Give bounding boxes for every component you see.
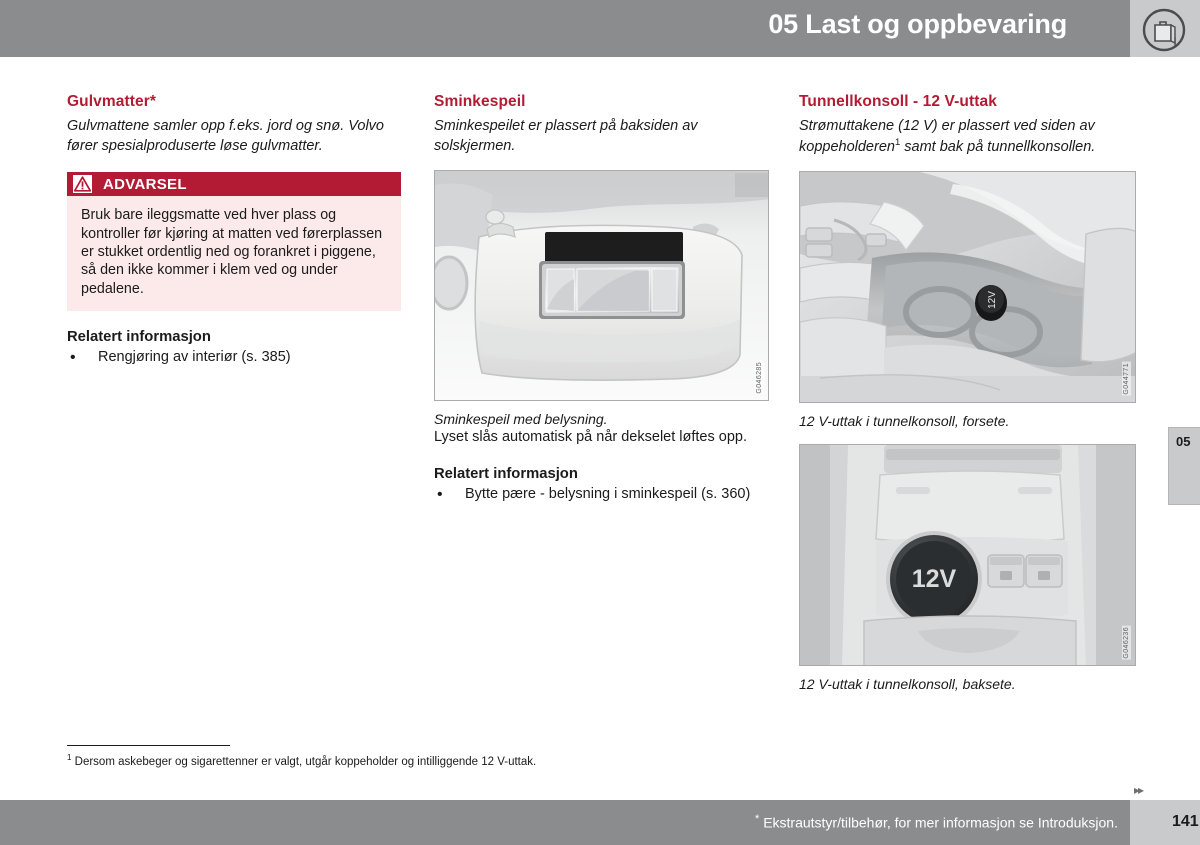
figure-vanity-mirror: G046285 Sminkespeil med belysning. xyxy=(434,170,769,428)
console-front-illustration: 12V xyxy=(800,172,1136,403)
chapter-title: 05 Last og oppbevaring xyxy=(768,9,1067,40)
tunnel-console-rear-photo: 12V G046236 xyxy=(799,444,1136,666)
page-content: Gulvmatter* Gulvmattene samler opp f.eks… xyxy=(0,57,1200,776)
list-item[interactable]: Rengjøring av interiør (s. 385) xyxy=(67,348,401,367)
socket-label-rear: 12V xyxy=(912,565,957,593)
svg-text:12V: 12V xyxy=(987,291,998,309)
chapter-side-tab[interactable]: 05 xyxy=(1168,427,1200,505)
next-page-arrows[interactable]: ▸▸ xyxy=(1134,783,1142,797)
column-left: Gulvmatter* Gulvmattene samler opp f.eks… xyxy=(67,93,401,367)
chapter-side-tab-label: 05 xyxy=(1176,434,1190,449)
footnote-area: 1 Dersom askebeger og sigarettenner er v… xyxy=(67,745,1067,770)
warning-text: Bruk bare ileggsmatte ved hver plass og … xyxy=(67,196,401,311)
figure-code: G046236 xyxy=(1122,626,1131,660)
warning-label: ADVARSEL xyxy=(103,176,187,193)
figure-code: G044771 xyxy=(1122,362,1131,396)
luggage-icon xyxy=(1141,7,1187,53)
figure-console-rear: 12V G046236 12 V-uttak i tunnelkonsoll, … xyxy=(799,444,1136,693)
figure-code: G046285 xyxy=(755,361,764,395)
page-number-box: 141 xyxy=(1130,800,1200,845)
asterisk-marker: * xyxy=(755,813,759,825)
intro-part-2: samt bak på tunnellkonsollen. xyxy=(900,138,1095,154)
warning-header: ADVARSEL xyxy=(67,172,401,196)
vanity-mirror-photo: G046285 xyxy=(434,170,769,401)
console-rear-illustration: 12V xyxy=(800,445,1136,666)
page-number: 141 xyxy=(1172,813,1199,831)
warning-box: ADVARSEL Bruk bare ileggsmatte ved hver … xyxy=(67,172,401,311)
page-header: 05 Last og oppbevaring xyxy=(0,0,1200,57)
tunnelkonsoll-intro: Strømuttakene (12 V) er plassert ved sid… xyxy=(799,117,1136,157)
vanity-mirror-illustration xyxy=(435,171,769,401)
related-info-title-middle: Relatert informasjon xyxy=(434,466,769,482)
figure-caption-console-rear: 12 V-uttak i tunnelkonsoll, baksete. xyxy=(799,675,1136,693)
list-item[interactable]: Bytte pære - belysning i sminkespeil (s.… xyxy=(434,485,769,504)
column-middle: Sminkespeil Sminkespeilet er plassert på… xyxy=(434,93,769,504)
warning-triangle-icon xyxy=(73,175,92,193)
sminkespeil-intro: Sminkespeilet er plassert på baksiden av… xyxy=(434,117,769,156)
footer-bar: * Ekstrautstyr/tilbehør, for mer informa… xyxy=(0,800,1130,845)
column-right: Tunnellkonsoll - 12 V-uttak Strømuttaken… xyxy=(799,93,1136,693)
page-footer: * Ekstrautstyr/tilbehør, for mer informa… xyxy=(0,800,1200,845)
related-info-list-left: Rengjøring av interiør (s. 385) xyxy=(67,348,401,367)
footer-asterisk-note: * Ekstrautstyr/tilbehør, for mer informa… xyxy=(755,813,1118,831)
related-info-title-left: Relatert informasjon xyxy=(67,329,401,345)
footnote-body: Dersom askebeger og sigarettenner er val… xyxy=(75,756,537,768)
section-title-gulvmatter: Gulvmatter* xyxy=(67,93,401,111)
figure-caption-vanity-mirror: Sminkespeil med belysning. xyxy=(434,410,769,428)
gulvmatter-intro: Gulvmattene samler opp f.eks. jord og sn… xyxy=(67,117,401,156)
footer-note-text: Ekstrautstyr/tilbehør, for mer informasj… xyxy=(763,815,1118,831)
header-icon-box xyxy=(1130,0,1200,57)
section-title-tunnelkonsoll: Tunnellkonsoll - 12 V-uttak xyxy=(799,93,1136,111)
tunnel-console-front-photo: 12V G044771 xyxy=(799,171,1136,403)
sminkespeil-body-text: Lyset slås automatisk på når dekselet lø… xyxy=(434,428,769,448)
section-title-sminkespeil: Sminkespeil xyxy=(434,93,769,111)
figure-caption-console-front: 12 V-uttak i tunnelkonsoll, forsete. xyxy=(799,412,1136,430)
figure-console-front: 12V G044771 12 V-uttak i tunnelkonsoll, … xyxy=(799,171,1136,430)
related-info-list-middle: Bytte pære - belysning i sminkespeil (s.… xyxy=(434,485,769,504)
footnote-text: 1 Dersom askebeger og sigarettenner er v… xyxy=(67,753,1067,770)
footnote-divider xyxy=(67,745,230,746)
footnote-number: 1 xyxy=(67,753,71,762)
